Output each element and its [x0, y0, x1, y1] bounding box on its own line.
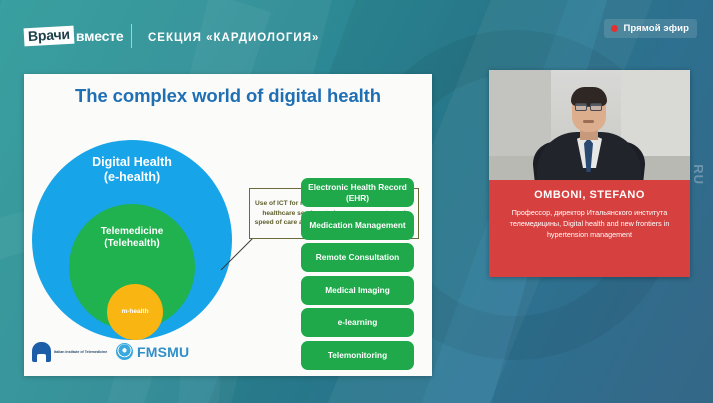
service-box-medication-management[interactable]: Medication Management — [301, 211, 414, 240]
brand-logo[interactable]: Врачи вместе — [24, 27, 123, 45]
venn-label-line1: Digital Health — [92, 155, 172, 170]
live-badge[interactable]: Прямой эфир — [604, 19, 697, 38]
italian-institute-logo-text: Italian Institute of Telemedicine — [54, 350, 107, 355]
service-box-e-learning[interactable]: e-learning — [301, 308, 414, 337]
header-bar: Врачи вместе СЕКЦИЯ «КАРДИОЛОГИЯ» Прямой… — [0, 0, 713, 66]
venn-label-line2: (e-health) — [92, 170, 172, 185]
institute-mark-icon — [32, 342, 51, 362]
fmsmu-logo: FMSMU — [116, 343, 189, 360]
brand-logo-badge: Врачи — [24, 26, 75, 46]
fmsmu-mark-icon — [116, 343, 133, 360]
venn-label-telemedicine: Telemedicine (Telehealth) — [101, 226, 164, 250]
brand-logo-word: вместе — [76, 28, 124, 44]
section-title: СЕКЦИЯ «КАРДИОЛОГИЯ» — [148, 32, 319, 44]
speaker-description: Профессор, директор Итальянского институ… — [497, 208, 682, 241]
speaker-glasses-left-lens — [575, 103, 587, 111]
speaker-video-feed[interactable] — [489, 70, 690, 180]
speaker-mouth — [583, 120, 594, 123]
header-divider — [131, 24, 132, 48]
fmsmu-logo-text: FMSMU — [137, 344, 189, 360]
service-box-ehr[interactable]: Electronic Health Record (EHR) — [301, 178, 414, 207]
broadcast-stage: Врачи вместе СЕКЦИЯ «КАРДИОЛОГИЯ» Прямой… — [0, 0, 713, 403]
service-box-medical-imaging[interactable]: Medical Imaging — [301, 276, 414, 305]
speaker-info-card: OMBONI, STEFANO Профессор, директор Итал… — [489, 180, 690, 277]
italian-institute-logo: Italian Institute of Telemedicine — [32, 342, 107, 362]
speaker-name: OMBONI, STEFANO — [497, 189, 682, 201]
venn-label-mhealth: m-health — [121, 308, 148, 316]
live-badge-label: Прямой эфир — [623, 23, 689, 34]
language-watermark: RU — [691, 164, 706, 185]
speaker-video-panel[interactable]: OMBONI, STEFANO Профессор, директор Итал… — [489, 70, 690, 277]
venn-circle-mhealth: m-health — [107, 284, 163, 340]
slide-footer: Italian Institute of Telemedicine FMSMU — [24, 340, 432, 370]
speaker-glasses-bridge — [587, 106, 590, 107]
venn-label-digital-health: Digital Health (e-health) — [92, 155, 172, 185]
slide-title: The complex world of digital health — [24, 85, 432, 107]
venn-label-line1: Telemedicine — [101, 226, 164, 238]
service-box-remote-consultation[interactable]: Remote Consultation — [301, 243, 414, 272]
live-dot-icon — [611, 25, 618, 32]
speaker-glasses-right-lens — [590, 103, 602, 111]
presentation-slide[interactable]: The complex world of digital health Digi… — [24, 74, 432, 376]
venn-label-line2: (Telehealth) — [101, 238, 164, 250]
